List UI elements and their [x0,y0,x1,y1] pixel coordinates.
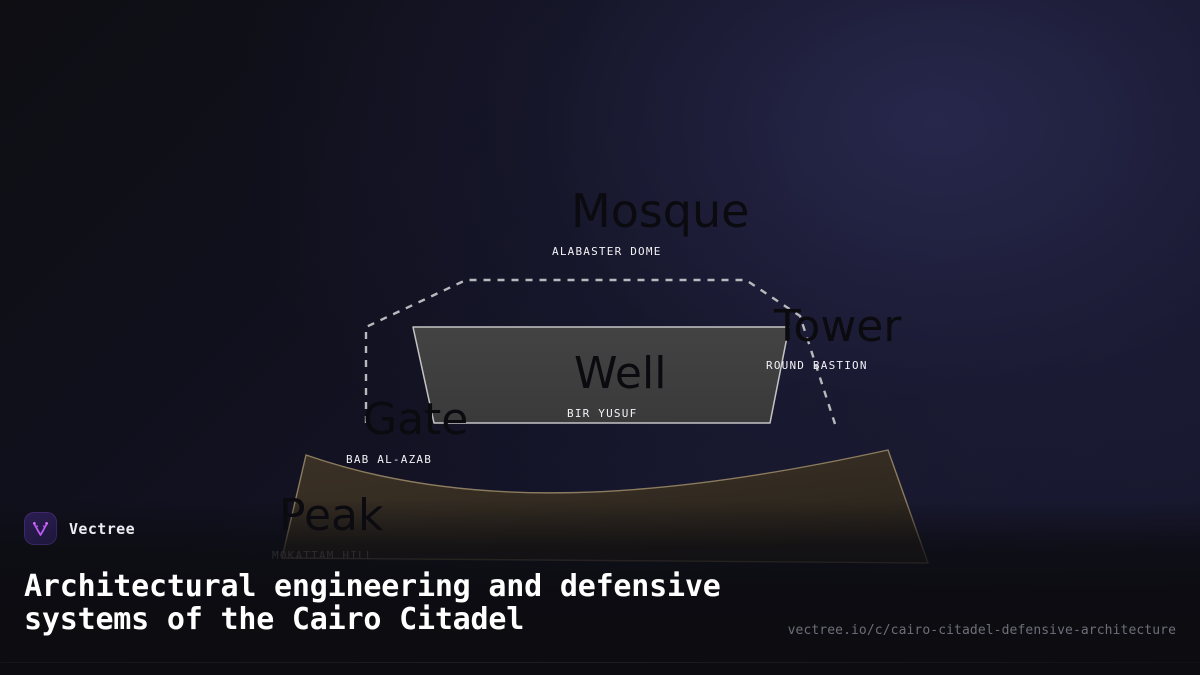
brand-name: Vectree [69,520,135,538]
presentation-canvas: Mosque ALABASTER DOME Tower ROUND BASTIO… [0,0,1200,675]
shape-mokattam-hill [282,450,928,563]
brand-lockup: Vectree [24,512,135,545]
footer-divider [0,662,1200,663]
page-title: Architectural engineering and defensive … [24,570,724,636]
shape-citadel-keep [413,327,789,423]
source-url: vectree.io/c/cairo-citadel-defensive-arc… [788,623,1176,638]
vectree-logo-icon [24,512,57,545]
